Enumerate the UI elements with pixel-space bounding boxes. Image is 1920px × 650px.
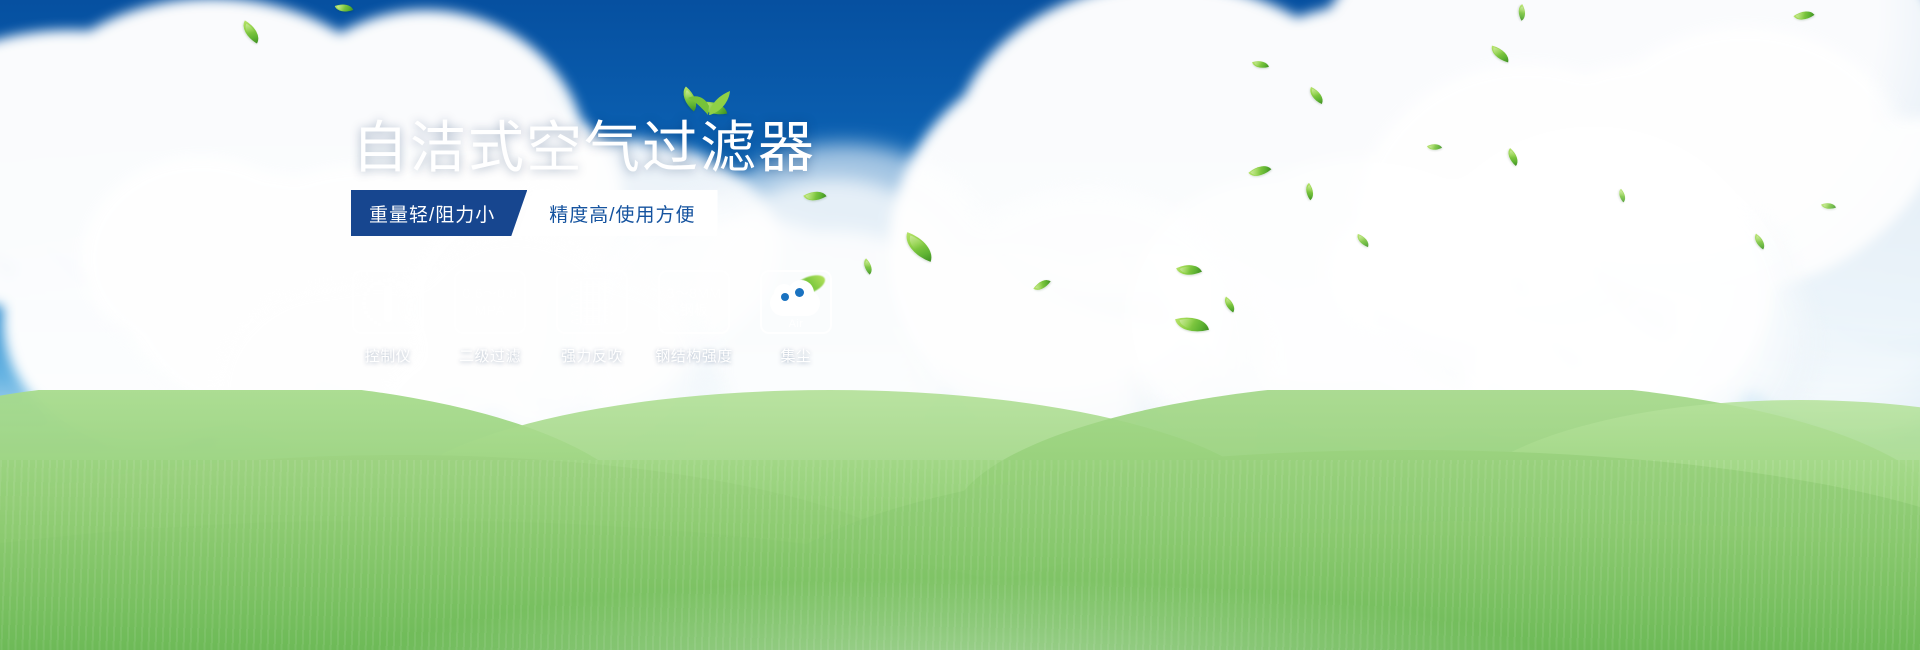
dial-tick [367,288,370,291]
dial-tick [370,318,373,321]
dial-tick [370,285,373,288]
dial-tick [364,292,367,295]
feature-item-backblow[interactable]: 强力反吹 [556,270,628,366]
feature-icon-row: NO OFF 控制仪 0.6～0.8 MPA 二级过滤 [352,270,832,366]
dial-needle [384,286,392,322]
air-label: Air [768,318,824,330]
tab-label: 重量轻/阻力小 [369,200,495,227]
dial-tick [363,297,366,300]
banner-content: 自洁式空气过滤器 重量轻/阻力小 精度高/使用方便 NO OFF [0,0,1920,650]
product-banner: 自洁式空气过滤器 重量轻/阻力小 精度高/使用方便 NO OFF [0,0,1920,650]
feature-label: 集尘 [780,345,811,366]
dial-tick [404,286,407,289]
green-leaf-pair-icon [686,88,732,116]
dial-off-label: OFF [404,320,416,326]
pressure-text-icon: 0.6～0.8 MPA [462,285,517,319]
feature-label: 强力反吹 [561,345,623,366]
dial-tick [397,281,400,284]
dial-tick [387,278,390,281]
dial-tick [383,279,386,282]
feature-box: Air [760,270,832,334]
tab-precision-ease[interactable]: 精度高/使用方便 [517,190,717,236]
dial-tick [409,294,412,297]
feature-tabs: 重量轻/阻力小 精度高/使用方便 [351,190,718,236]
feature-box: 3～8MM 钢板 [658,270,730,334]
feature-label: 控制仪 [365,345,412,366]
dial-tick [367,315,370,318]
feature-item-dust[interactable]: Air 集尘 [760,270,832,366]
dial-tick [407,290,410,293]
dial-tick [374,282,377,285]
feature-item-steel[interactable]: 3～8MM 钢板 钢结构强度 [658,270,730,366]
dial-tick [378,323,381,326]
page-title: 自洁式空气过滤器 [352,118,816,180]
feature-label: 二级过滤 [459,345,521,366]
tab-weight-resistance[interactable]: 重量轻/阻力小 [351,190,527,236]
dial-tick [410,299,413,302]
dial-tick [362,302,365,305]
air-cloud-icon: Air [768,278,824,326]
dial-tick [378,280,381,283]
feature-box [556,270,628,334]
feature-item-control[interactable]: NO OFF 控制仪 [352,270,424,366]
dial-tick [392,279,395,282]
feature-label: 钢结构强度 [655,345,733,366]
feature-box: 0.6～0.8 MPA [454,270,526,334]
dial-tick [409,308,412,311]
steel-plate-text-icon: 3～8MM 钢板 [667,285,721,319]
control-dial-icon: NO OFF [361,277,415,327]
dial-tick [408,312,411,315]
dial-tick [374,321,377,324]
feature-box: NO OFF [352,270,424,334]
feature-item-filtration[interactable]: 0.6～0.8 MPA 二级过滤 [454,270,526,366]
filter-stack-icon [571,278,613,326]
tab-label: 精度高/使用方便 [549,200,695,227]
dial-tick [410,303,413,306]
dial-tick [364,311,367,314]
dial-tick [405,316,408,319]
